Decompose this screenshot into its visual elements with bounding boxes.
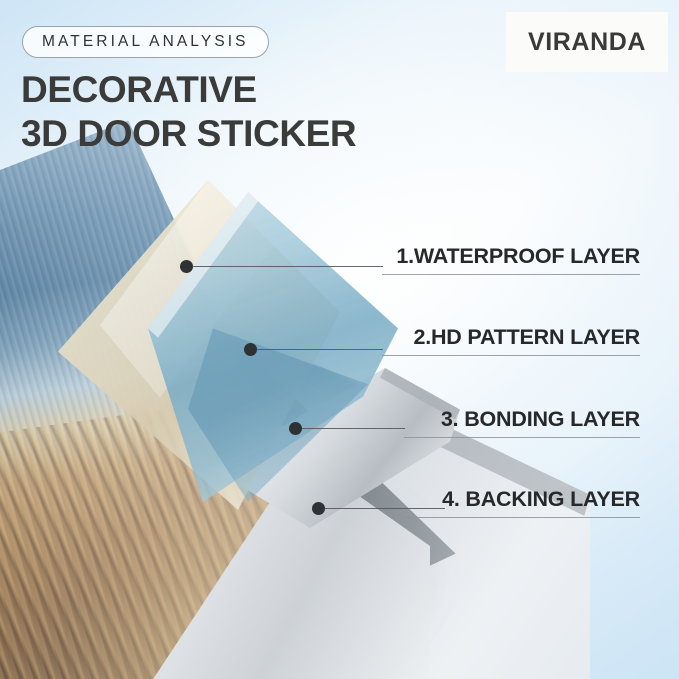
infographic-canvas: MATERIAL ANALYSIS DECORATIVE 3D DOOR STI… — [0, 0, 679, 679]
callout-leader-line — [302, 428, 405, 429]
callout-label: 4. BACKING LAYER — [442, 487, 640, 512]
product-artwork — [0, 160, 500, 679]
material-analysis-badge-label: MATERIAL ANALYSIS — [42, 33, 249, 51]
callout-anchor-dot — [244, 343, 257, 356]
callout-anchor-dot — [289, 422, 302, 435]
callout-anchor-dot — [312, 502, 325, 515]
page-title-line-1: DECORATIVE — [21, 69, 257, 110]
brand-logo: VIRANDA — [506, 12, 668, 72]
callout-underline — [382, 355, 640, 356]
callout-leader-line — [193, 266, 383, 267]
brand-logo-text: VIRANDA — [528, 28, 646, 57]
callout-underline — [404, 437, 640, 438]
callout-label: 2.HD PATTERN LAYER — [413, 325, 640, 350]
callout-leader-line — [325, 508, 445, 509]
callout-label: 3. BONDING LAYER — [441, 407, 640, 432]
material-analysis-badge: MATERIAL ANALYSIS — [22, 26, 269, 58]
callout-anchor-dot — [180, 260, 193, 273]
callout-underline — [382, 274, 640, 275]
callout-leader-line — [257, 349, 383, 350]
page-title: DECORATIVE 3D DOOR STICKER — [21, 68, 356, 156]
callout-label: 1.WATERPROOF LAYER — [396, 244, 640, 269]
callout-underline — [404, 517, 640, 518]
page-title-line-2: 3D DOOR STICKER — [21, 112, 356, 156]
